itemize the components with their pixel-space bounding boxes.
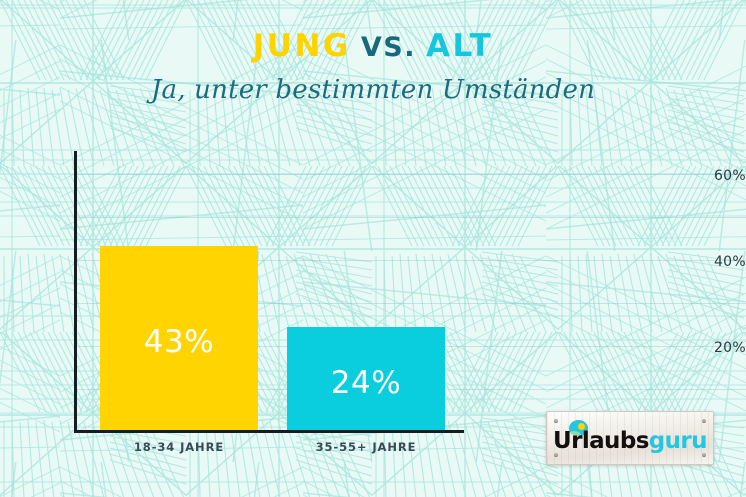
logo-word-urlaubs: Urlaubs	[553, 428, 649, 454]
logo-wordmark: Urlaubsguru	[546, 411, 714, 465]
urlaubsguru-logo[interactable]: Urlaubsguru	[546, 411, 714, 465]
y-tick-label-40: 40%	[684, 254, 746, 270]
bar-35-55-plus[interactable]: 24%	[287, 327, 445, 430]
bar-value-label-18-34: 43%	[144, 324, 214, 360]
gridline-60	[76, 174, 746, 175]
y-axis-line	[74, 151, 77, 432]
y-tick-label-60: 60%	[684, 168, 746, 184]
logo-word-guru: guru	[649, 428, 707, 454]
x-axis-line	[74, 430, 464, 433]
gridline-50	[76, 217, 746, 218]
infographic-poster: JUNGVS.ALT Ja, unter bestimmten Umstände…	[0, 0, 746, 497]
bar-18-34[interactable]: 43%	[100, 246, 258, 430]
x-tick-label-18-34: 18-34 JAHRE	[100, 440, 258, 454]
bar-value-label-35-55-plus: 24%	[331, 365, 401, 401]
x-tick-label-35-55-plus: 35-55+ JAHRE	[287, 440, 445, 454]
y-tick-label-20: 20%	[684, 340, 746, 356]
